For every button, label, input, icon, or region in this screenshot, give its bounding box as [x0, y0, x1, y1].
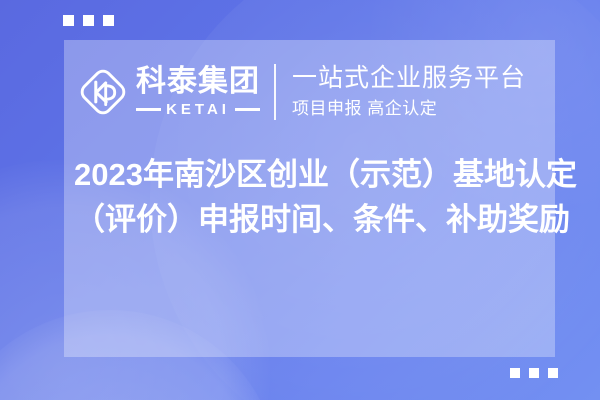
square-dot-icon: [63, 15, 74, 26]
logo-rule-left-icon: [136, 108, 161, 111]
decorative-dots-bottom-right: [510, 368, 558, 378]
vertical-divider: [274, 64, 276, 120]
square-dot-icon: [548, 368, 558, 378]
page-title: 2023年南沙区创业（示范）基地认定（评价）申报时间、条件、补助奖励: [74, 152, 594, 243]
logo-wordmark: 科泰集团 KETAI: [136, 66, 260, 118]
decorative-dots-top-left: [63, 15, 114, 26]
logo-name-en-row: KETAI: [136, 101, 260, 118]
tagline-secondary: 项目申报 高企认定: [292, 98, 526, 120]
square-dot-icon: [510, 368, 520, 378]
company-logo[interactable]: 科泰集团 KETAI: [76, 65, 260, 119]
square-dot-icon: [529, 368, 539, 378]
brand-header: 科泰集团 KETAI 一站式企业服务平台 项目申报 高企认定: [64, 40, 555, 144]
promo-banner: 科泰集团 KETAI 一站式企业服务平台 项目申报 高企认定 2023年南沙区创…: [0, 0, 600, 400]
tagline-block: 一站式企业服务平台 项目申报 高企认定: [292, 64, 526, 120]
content-card: 科泰集团 KETAI 一站式企业服务平台 项目申报 高企认定 2023年南沙区创…: [64, 40, 555, 357]
ketai-kp-diamond-logo-icon: [76, 65, 130, 119]
square-dot-icon: [83, 15, 94, 26]
tagline-primary: 一站式企业服务平台: [292, 64, 526, 94]
logo-rule-right-icon: [235, 108, 260, 111]
logo-name-cn: 科泰集团: [136, 66, 260, 98]
square-dot-icon: [103, 15, 114, 26]
logo-name-en: KETAI: [166, 101, 230, 118]
